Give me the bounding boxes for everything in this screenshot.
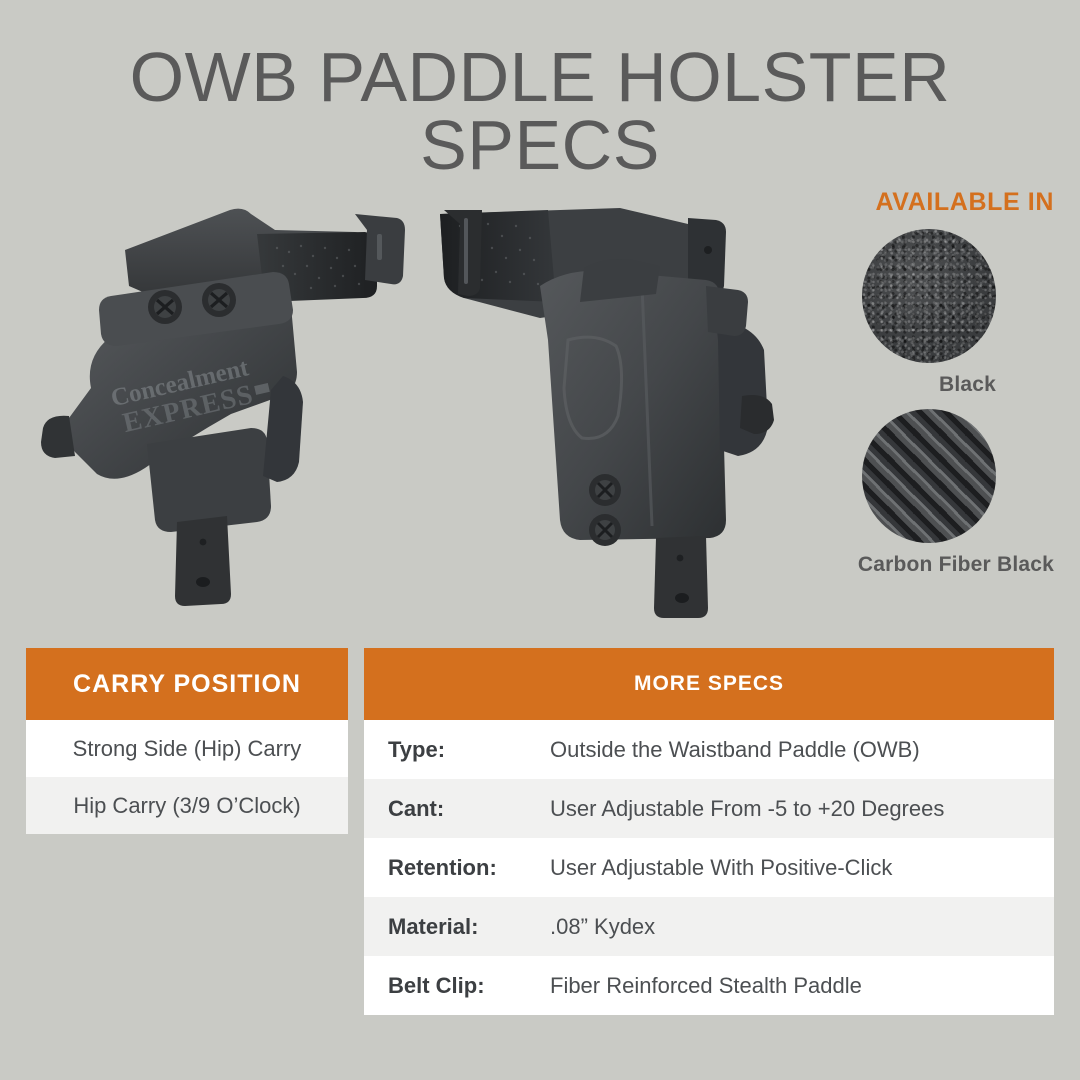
carry-position-header: CARRY POSITION (26, 648, 348, 720)
page-title: OWB PADDLE HOLSTER SPECS (0, 44, 1080, 180)
table-row: Belt Clip: Fiber Reinforced Stealth Padd… (364, 956, 1054, 1015)
spec-value-cant: User Adjustable From -5 to +20 Degrees (550, 796, 944, 822)
carry-position-table: CARRY POSITION Strong Side (Hip) Carry H… (26, 648, 348, 834)
swatch-carbon-fiber-label: Carbon Fiber Black (784, 554, 1054, 575)
table-row: Retention: User Adjustable With Positive… (364, 838, 1054, 897)
more-specs-header: MORE SPECS (364, 648, 1054, 720)
spec-label-type: Type: (388, 737, 550, 763)
available-in-title: AVAILABLE IN (784, 190, 1054, 215)
table-row: Strong Side (Hip) Carry (26, 720, 348, 777)
spec-label-belt-clip: Belt Clip: (388, 973, 550, 999)
swatch-black[interactable]: Black (784, 229, 1054, 395)
holster-front-view-image: Concealment EXPRESS (25, 190, 415, 630)
available-in-panel: AVAILABLE IN Black Carbon Fiber Black (784, 190, 1054, 575)
spec-value-belt-clip: Fiber Reinforced Stealth Paddle (550, 973, 862, 999)
table-row: Hip Carry (3/9 O’Clock) (26, 777, 348, 834)
table-row: Type: Outside the Waistband Paddle (OWB) (364, 720, 1054, 779)
more-specs-table: MORE SPECS Type: Outside the Waistband P… (364, 648, 1054, 1015)
spec-value-material: .08” Kydex (550, 914, 655, 940)
black-kydex-swatch-icon[interactable] (862, 229, 996, 363)
spec-value-type: Outside the Waistband Paddle (OWB) (550, 737, 920, 763)
spec-label-material: Material: (388, 914, 550, 940)
table-row: Cant: User Adjustable From -5 to +20 Deg… (364, 779, 1054, 838)
swatch-black-label: Black (784, 374, 996, 395)
spec-label-cant: Cant: (388, 796, 550, 822)
spec-value-retention: User Adjustable With Positive-Click (550, 855, 892, 881)
holster-back-view-image (420, 190, 810, 630)
carbon-fiber-black-swatch-icon[interactable] (862, 409, 996, 543)
swatch-carbon-fiber-black[interactable]: Carbon Fiber Black (784, 409, 1054, 575)
table-row: Material: .08” Kydex (364, 897, 1054, 956)
spec-label-retention: Retention: (388, 855, 550, 881)
product-photo-group: Concealment EXPRESS (0, 190, 810, 630)
